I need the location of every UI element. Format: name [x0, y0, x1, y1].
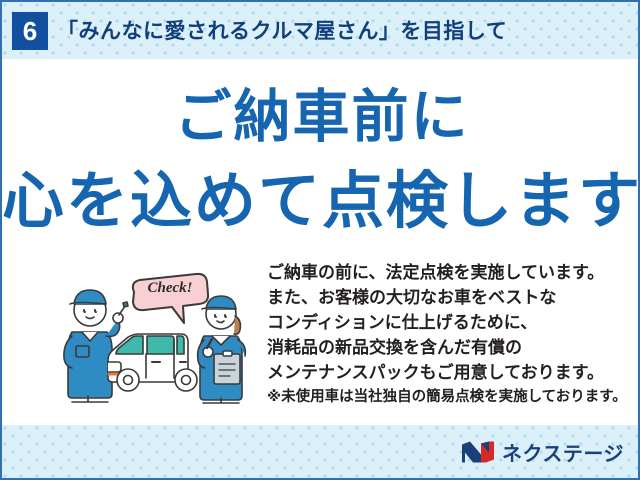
advertisement-page: 6 「みんなに愛されるクルマ屋さん」を目指して ご納車前に 心を込めて点検します — [0, 0, 640, 480]
speech-bubble-text: Check! — [148, 280, 193, 296]
header-title: 「みんなに愛されるクルマ屋さん」を目指して — [57, 15, 507, 45]
nextage-n-mark-icon — [461, 440, 495, 463]
footer-band: ネクステージ — [2, 425, 640, 478]
inspected-van — [108, 334, 197, 391]
body-copy: ご納車の前に、法定点検を実施しています。 また、お客様の大切なお車をベストな コ… — [267, 260, 637, 409]
headline-line-2: 心を込めて点検します — [2, 170, 640, 234]
header-band: 6 「みんなに愛されるクルマ屋さん」を目指して — [2, 2, 640, 59]
body-line-2: また、お客様の大切なお車をベストな — [267, 285, 637, 310]
step-number-text: 6 — [23, 18, 37, 44]
mechanic-right — [198, 296, 246, 403]
body-line-1: ご納車の前に、法定点検を実施しています。 — [267, 260, 637, 285]
body-line-4: 消耗品の新品交換を含んだ有償の — [267, 335, 637, 360]
body-note: ※未使用車は当社独自の簡易点検を実施しております。 — [267, 385, 637, 409]
body-line-5: メンテナンスパックもご用意しております。 — [267, 360, 637, 385]
illustration-svg: Check! — [62, 270, 257, 405]
mechanics-inspection-illustration: Check! — [62, 270, 257, 405]
body-line-3: コンディションに仕上げるために、 — [267, 310, 637, 335]
headline-line-1: ご納車前に — [2, 88, 640, 146]
brand-logo: ネクステージ — [461, 437, 624, 466]
step-number-badge: 6 — [12, 12, 48, 50]
clipboard — [214, 351, 240, 384]
brand-name-text: ネクステージ — [502, 437, 624, 466]
